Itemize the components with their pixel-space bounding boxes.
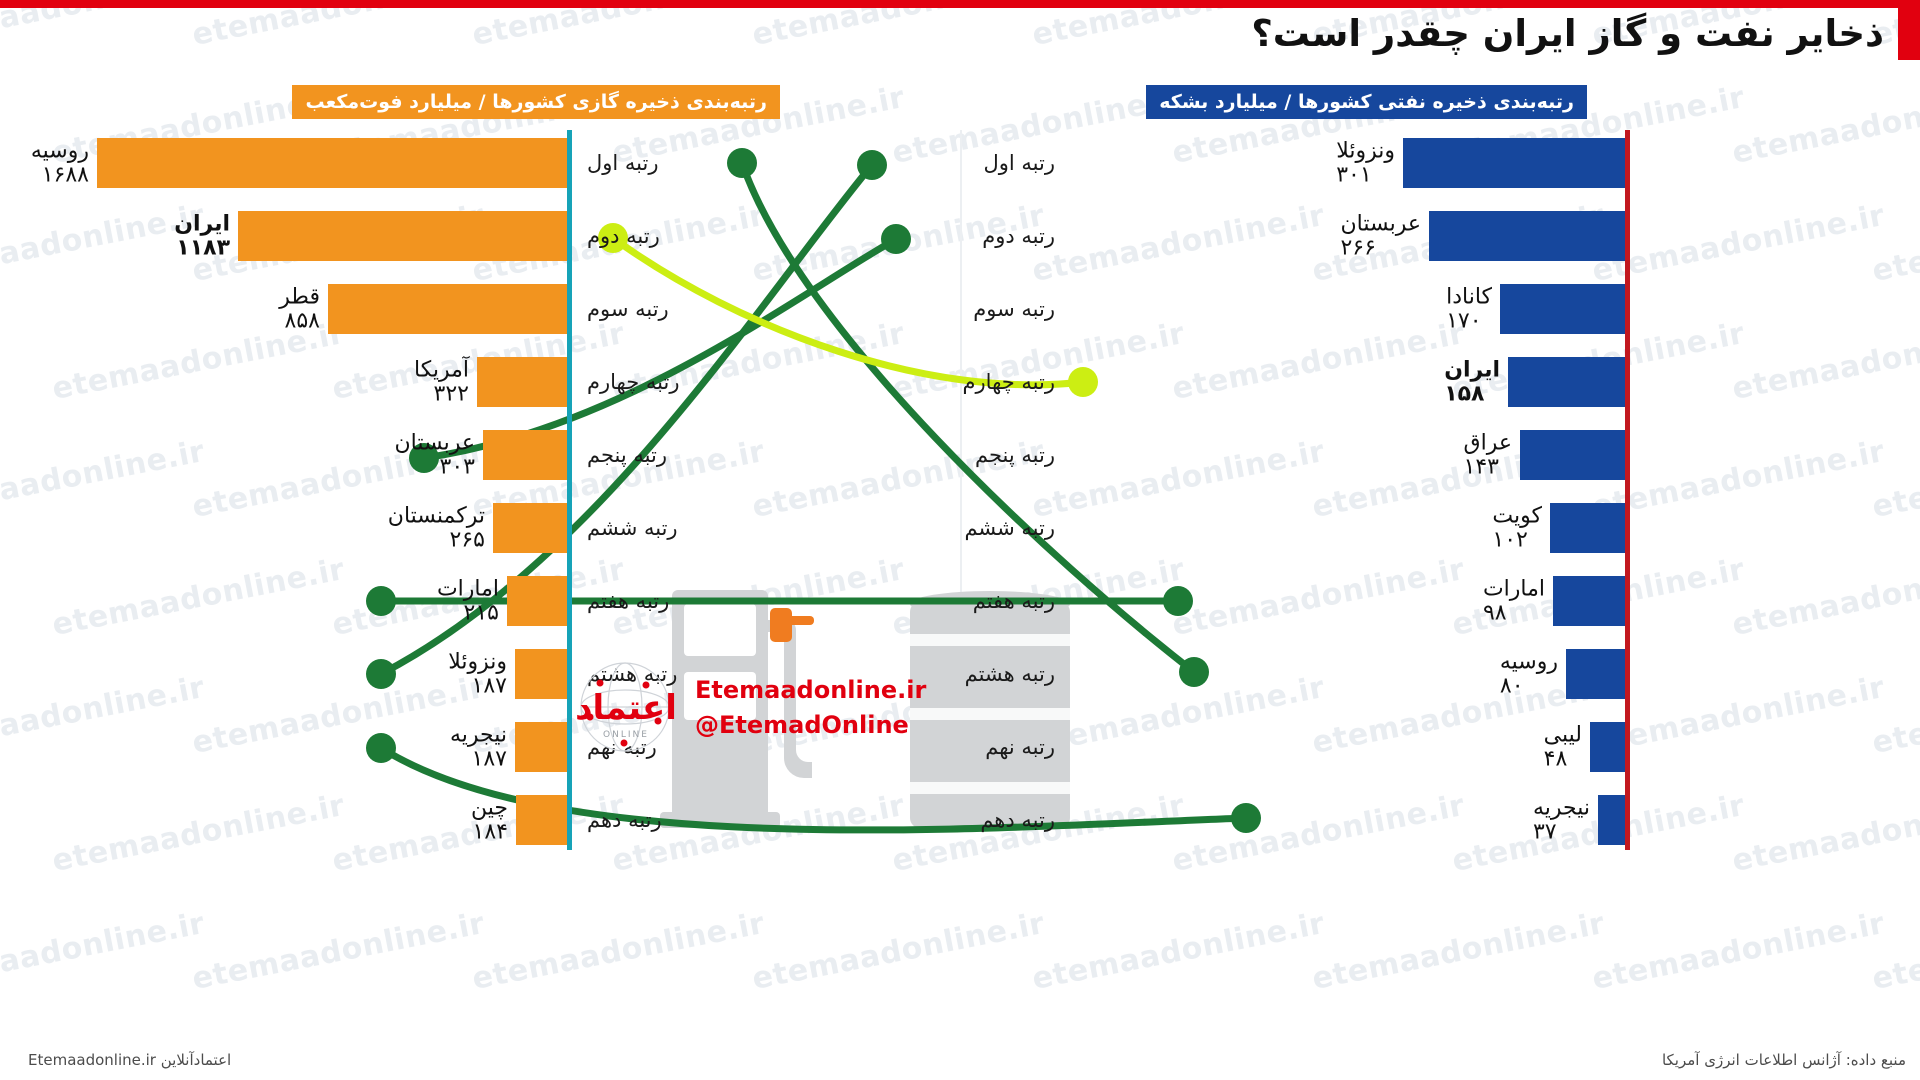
country-name: نیجریه [450,723,507,747]
chart-row: رتبه ششمکویت۱۰۲ [1070,503,1630,553]
country-value: ۲۶۶ [1340,236,1421,260]
value-bar [1590,722,1625,772]
country-value: ۳۷ [1533,820,1590,844]
chart-row: رتبه اولروسیه۱۶۸۸ [272,138,832,188]
watermark-text: etemaadonline.ir [0,670,208,761]
country-value: ۱۸۷ [448,674,507,698]
oil-chart-rows: رتبه اولونزوئلا۳۰۱رتبه دومعربستان۲۶۶رتبه… [1070,130,1630,850]
rank-label: رتبه اول [800,151,1055,175]
watermark-text: etemaadonline.ir [469,906,767,997]
chart-row: رتبه ششمترکمنستان۲۶۵ [272,503,832,553]
country-name: آمریکا [414,358,469,382]
country-name: روسیه [1500,650,1558,674]
country-value: ۹۸ [1483,601,1545,625]
chart-row: رتبه سومکانادا۱۷۰ [1070,284,1630,334]
watermark-text: etemaadonline.ir [1869,670,1920,761]
country-name: عربستان [394,431,475,455]
country-value: ۱۸۷ [450,747,507,771]
country-value: ۱۸۴ [471,820,508,844]
watermark-text: etemaadonline.ir [189,906,487,997]
country-value: ۱۵۸ [1444,382,1500,406]
bar-value-label: کانادا۱۷۰ [1446,285,1492,333]
chart-row: رتبه هشتمروسیه۸۰ [1070,649,1630,699]
watermark-text: etemaadonline.ir [1869,434,1920,525]
bar-value-label: ونزوئلا۳۰۱ [1336,139,1395,187]
oil-reserves-chart: رتبه اولونزوئلا۳۰۱رتبه دومعربستان۲۶۶رتبه… [1070,130,1630,850]
watermark-text: etemaadonline.ir [0,906,208,997]
bar-value-label: چین۱۸۴ [471,796,508,844]
title-accent-flag [1898,8,1920,60]
rank-label: رتبه سوم [800,297,1055,321]
rank-label: رتبه دوم [800,224,1055,248]
rank-label: رتبه دهم [800,808,1055,832]
country-name: نیجریه [1533,796,1590,820]
rank-label: رتبه چهارم [587,370,827,394]
bar-value-label: ونزوئلا۱۸۷ [448,650,507,698]
chart-row: رتبه دهمچین۱۸۴ [272,795,832,845]
oil-section-header: رتبه‌بندی ذخیره نفتی کشورها / میلیارد بش… [1146,85,1587,119]
rank-label: رتبه دوم [587,224,827,248]
country-name: عراق [1464,431,1512,455]
rank-label: رتبه ششم [800,516,1055,540]
watermark-text: etemaadonline.ir [1309,906,1607,997]
watermark-text: etemaadonline.ir [1869,906,1920,997]
svg-text:ONLINE: ONLINE [603,730,649,740]
page-title: ذخایر نفت و گاز ایران چقدر است؟ [1251,12,1884,55]
country-name: روسیه [31,139,89,163]
value-bar [97,138,567,188]
chart-row: رتبه چهارمآمریکا۳۲۲ [272,357,832,407]
chart-row: رتبه سومقطر۸۵۸ [272,284,832,334]
watermark-text: etemaadonline.ir [1869,198,1920,289]
etemad-logo-block: اعتماد ONLINE Etemaadonline.ir @EtemadOn… [560,655,960,765]
value-bar [1553,576,1625,626]
watermark-text: etemaadonline.ir [1589,670,1887,761]
bar-value-label: نیجریه۱۸۷ [450,723,507,771]
brand-social-handle: @EtemadOnline [695,708,926,743]
chart-row: رتبه نهملیبی۴۸ [1070,722,1630,772]
svg-text:اعتماد: اعتماد [575,688,677,728]
footer-brand: Etemaadonline.ir اعتمادآنلاین [14,1051,231,1069]
bar-value-label: نیجریه۳۷ [1533,796,1590,844]
country-value: ۱۱۸۳ [174,236,230,260]
value-bar [238,211,567,261]
watermark-text: etemaadonline.ir [1589,906,1887,997]
watermark-text: etemaadonline.ir [1729,80,1920,171]
watermark-text: etemaadonline.ir [1729,788,1920,879]
value-bar [328,284,567,334]
rank-label: رتبه اول [587,151,827,175]
chart-row: رتبه هفتمامارات۹۸ [1070,576,1630,626]
footer-site-fa: اعتمادآنلاین [161,1051,231,1069]
country-name: ایران [1444,358,1500,382]
country-name: قطر [279,285,320,309]
bar-value-label: عربستان۳۰۳ [394,431,475,479]
country-value: ۸۵۸ [279,309,320,333]
country-value: ۸۰ [1500,674,1558,698]
country-name: ترکمنستان [388,504,485,528]
top-accent-rule [0,0,1920,8]
country-name: ایران [174,212,230,236]
value-bar [1566,649,1625,699]
rank-label: رتبه چهارم [800,370,1055,394]
rank-label: رتبه سوم [587,297,827,321]
chart-row: رتبه دهمنیجریه۳۷ [1070,795,1630,845]
chart-row: رتبه چهارمایران۱۵۸ [1070,357,1630,407]
chart-row: رتبه هفتمامارات۲۱۵ [272,576,832,626]
gas-section-header: رتبه‌بندی ذخیره گازی کشورها / میلیارد فو… [292,85,780,119]
country-value: ۱۶۸۸ [31,163,89,187]
value-bar [483,430,567,480]
country-value: ۱۷۰ [1446,309,1492,333]
footer-source: منبع داده: آژانس اطلاعات انرژی آمریکا [1662,1051,1906,1069]
country-value: ۳۰۱ [1336,163,1395,187]
country-name: امارات [437,577,499,601]
bar-value-label: لیبی۴۸ [1544,723,1582,771]
country-value: ۱۰۲ [1492,528,1542,552]
country-name: ونزوئلا [1336,139,1395,163]
chart-row: رتبه پنجمعربستان۳۰۳ [272,430,832,480]
value-bar [477,357,567,407]
bar-value-label: امارات۲۱۵ [437,577,499,625]
rank-label: رتبه هفتم [587,589,827,613]
value-bar [507,576,567,626]
footer-bar: Etemaadonline.ir اعتمادآنلاین منبع داده:… [0,1042,1920,1080]
watermark-text: etemaadonline.ir [1729,316,1920,407]
bar-value-label: روسیه۱۶۸۸ [31,139,89,187]
infographic-canvas: etemaadonline.iretemaadonline.iretemaado… [0,0,1920,1080]
value-bar [1403,138,1625,188]
chart-row: رتبه پنجمعراق۱۴۳ [1070,430,1630,480]
country-value: ۱۴۳ [1464,455,1512,479]
value-bar [1598,795,1625,845]
country-name: لیبی [1544,723,1582,747]
country-value: ۳۲۲ [414,382,469,406]
bar-value-label: کویت۱۰۲ [1492,504,1542,552]
country-name: کویت [1492,504,1542,528]
country-value: ۲۱۵ [437,601,499,625]
rank-label: رتبه ششم [587,516,827,540]
bar-value-label: روسیه۸۰ [1500,650,1558,698]
country-name: کانادا [1446,285,1492,309]
watermark-text: etemaadonline.ir [1729,552,1920,643]
bar-value-label: ترکمنستان۲۶۵ [388,504,485,552]
country-name: عربستان [1340,212,1421,236]
watermark-text: etemaadonline.ir [1029,906,1327,997]
country-name: ونزوئلا [448,650,507,674]
watermark-text: etemaadonline.ir [749,906,1047,997]
country-value: ۴۸ [1544,747,1582,771]
bar-value-label: قطر۸۵۸ [279,285,320,333]
value-bar [1550,503,1625,553]
value-bar [1429,211,1625,261]
rank-label: رتبه دهم [587,808,827,832]
value-bar [493,503,567,553]
bar-value-label: عربستان۲۶۶ [1340,212,1421,260]
value-bar [1520,430,1625,480]
chart-row: رتبه دومعربستان۲۶۶ [1070,211,1630,261]
bar-value-label: ایران۱۵۸ [1444,358,1500,406]
rank-label: رتبه پنجم [587,443,827,467]
brand-site-url: Etemaadonline.ir [695,673,926,708]
bar-value-label: ایران۱۱۸۳ [174,212,230,260]
watermark-text: etemaadonline.ir [0,434,208,525]
rank-label: رتبه هفتم [800,589,1055,613]
value-bar [1500,284,1625,334]
country-name: امارات [1483,577,1545,601]
bar-value-label: امارات۹۸ [1483,577,1545,625]
value-bar [516,795,567,845]
value-bar [1508,357,1625,407]
watermark-text: etemaadonline.ir [1589,434,1887,525]
chart-row: رتبه دومایران۱۱۸۳ [272,211,832,261]
rank-label: رتبه پنجم [800,443,1055,467]
bar-value-label: آمریکا۳۲۲ [414,358,469,406]
watermark-text: etemaadonline.ir [1589,198,1887,289]
footer-site-en: Etemaadonline.ir [28,1051,156,1069]
etemad-globe-logo-icon: اعتماد ONLINE [560,655,690,760]
country-name: چین [471,796,508,820]
country-value: ۳۰۳ [394,455,475,479]
chart-row: رتبه اولونزوئلا۳۰۱ [1070,138,1630,188]
bar-value-label: عراق۱۴۳ [1464,431,1512,479]
country-value: ۲۶۵ [388,528,485,552]
